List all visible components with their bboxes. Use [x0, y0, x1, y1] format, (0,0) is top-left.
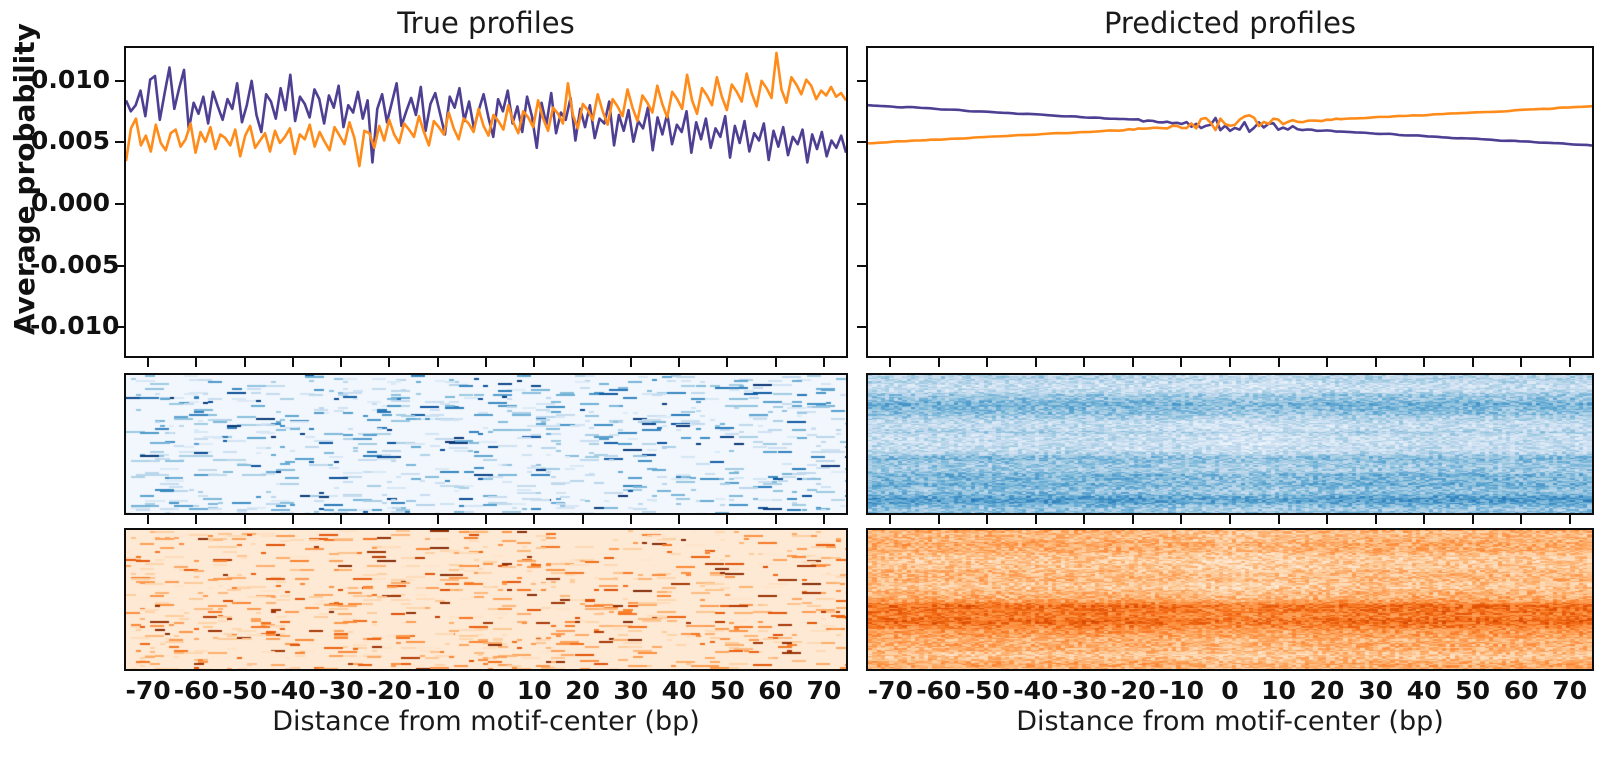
x-tick-mark [823, 358, 825, 367]
x-tick-mark [630, 358, 632, 367]
x-tick-mark [1520, 515, 1522, 524]
x-tick-label: 70 [1530, 676, 1600, 705]
x-tick-mark [1229, 515, 1231, 524]
x-tick-mark [147, 358, 149, 367]
panel-title-predicted: Predicted profiles [866, 6, 1594, 40]
x-tick-mark [986, 515, 988, 524]
x-tick-mark [533, 358, 535, 367]
heatmap-predicted-reverse-canvas [868, 530, 1594, 671]
x-axis-label-predicted: Distance from motif-center (bp) [866, 706, 1594, 737]
x-tick-mark [437, 358, 439, 367]
y-tick-label: -0.010 [30, 311, 110, 340]
x-tick-mark [437, 515, 439, 524]
heatmap-predicted-reverse [866, 528, 1594, 671]
x-tick-mark [1472, 358, 1474, 367]
x-tick-mark [889, 515, 891, 524]
y-tick-mark [857, 141, 866, 143]
x-tick-mark [1326, 358, 1328, 367]
lineplot-true-svg [126, 48, 846, 356]
heatmap-true-reverse [124, 528, 848, 671]
x-tick-mark [1278, 515, 1280, 524]
x-tick-mark [1278, 358, 1280, 367]
figure-canvas: True profiles Predicted profiles Average… [0, 0, 1600, 758]
y-tick-mark [857, 265, 866, 267]
x-tick-mark [889, 358, 891, 367]
y-tick-mark [857, 80, 866, 82]
x-tick-mark [340, 515, 342, 524]
x-tick-mark [1083, 358, 1085, 367]
x-tick-mark [292, 358, 294, 367]
x-tick-mark [775, 515, 777, 524]
y-tick-mark [115, 80, 124, 82]
x-tick-mark [533, 515, 535, 524]
lineplot-predicted-svg [868, 48, 1592, 356]
x-tick-mark [388, 515, 390, 524]
x-tick-mark [1180, 515, 1182, 524]
x-tick-mark [1375, 358, 1377, 367]
x-tick-mark [195, 358, 197, 367]
x-tick-mark [1229, 358, 1231, 367]
x-tick-mark [1180, 358, 1182, 367]
x-tick-mark [1520, 358, 1522, 367]
x-tick-mark [1423, 358, 1425, 367]
lineplot-axes-true [124, 46, 848, 358]
x-tick-mark [1083, 515, 1085, 524]
heatmap-true-forward-canvas [126, 375, 848, 515]
x-tick-mark [1375, 515, 1377, 524]
x-tick-mark [678, 515, 680, 524]
x-tick-mark [1326, 515, 1328, 524]
x-tick-mark [938, 515, 940, 524]
x-tick-mark [244, 515, 246, 524]
x-tick-mark [726, 358, 728, 367]
x-tick-mark [340, 358, 342, 367]
y-tick-label: 0.010 [30, 65, 110, 94]
x-tick-mark [388, 358, 390, 367]
x-tick-mark [1132, 358, 1134, 367]
y-tick-mark [115, 141, 124, 143]
x-tick-mark [244, 358, 246, 367]
x-tick-mark [1423, 515, 1425, 524]
x-tick-mark [678, 358, 680, 367]
x-tick-mark [292, 515, 294, 524]
y-tick-mark [115, 265, 124, 267]
heatmap-predicted-forward [866, 373, 1594, 515]
y-tick-label: -0.005 [30, 250, 110, 279]
lineplot-axes-predicted [866, 46, 1594, 358]
y-tick-mark [857, 203, 866, 205]
panel-title-true: True profiles [124, 6, 848, 40]
y-tick-mark [115, 326, 124, 328]
x-tick-mark [485, 515, 487, 524]
heatmap-true-forward [124, 373, 848, 515]
x-tick-mark [582, 515, 584, 524]
x-tick-mark [1132, 515, 1134, 524]
x-tick-mark [726, 515, 728, 524]
x-tick-mark [147, 515, 149, 524]
x-tick-mark [630, 515, 632, 524]
x-tick-mark [823, 515, 825, 524]
x-tick-mark [1569, 358, 1571, 367]
x-axis-label-true: Distance from motif-center (bp) [124, 706, 848, 737]
x-tick-mark [1472, 515, 1474, 524]
x-tick-mark [986, 358, 988, 367]
x-tick-mark [1035, 358, 1037, 367]
y-tick-label: 0.000 [30, 188, 110, 217]
heatmap-predicted-forward-canvas [868, 375, 1594, 515]
y-tick-label: 0.005 [30, 126, 110, 155]
y-tick-mark [857, 326, 866, 328]
x-tick-mark [1035, 515, 1037, 524]
x-tick-mark [582, 358, 584, 367]
x-tick-mark [195, 515, 197, 524]
heatmap-true-reverse-canvas [126, 530, 848, 671]
x-tick-mark [1569, 515, 1571, 524]
x-tick-mark [775, 358, 777, 367]
x-tick-mark [938, 358, 940, 367]
x-tick-mark [485, 358, 487, 367]
y-tick-mark [115, 203, 124, 205]
